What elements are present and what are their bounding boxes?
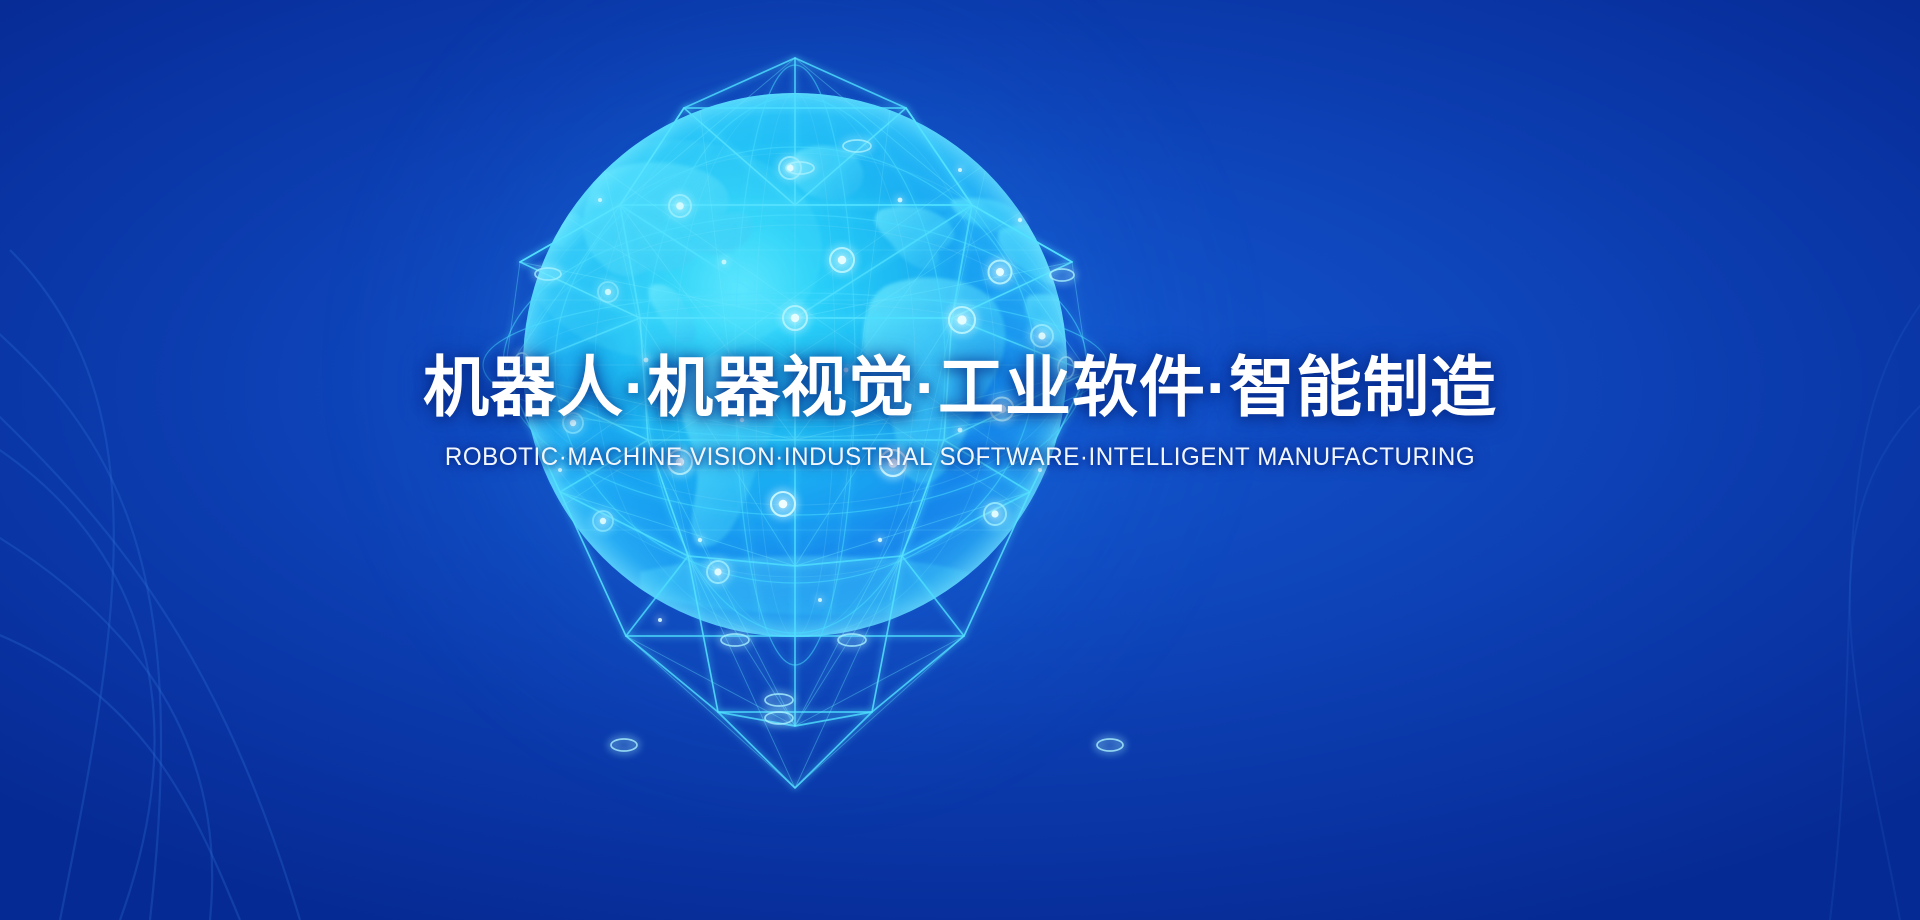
node-marker bbox=[593, 511, 613, 531]
sphere-specular bbox=[522, 140, 822, 360]
node-marker bbox=[783, 306, 807, 330]
node-marker bbox=[598, 282, 618, 302]
page-title: 机器人·机器视觉·工业软件·智能制造 bbox=[0, 352, 1920, 423]
node-marker bbox=[949, 307, 975, 333]
node-marker bbox=[984, 503, 1006, 525]
hero-banner: 机器人·机器视觉·工业软件·智能制造 ROBOTIC·MACHINE VISIO… bbox=[0, 0, 1920, 920]
page-subtitle: ROBOTIC·MACHINE VISION·INDUSTRIAL SOFTWA… bbox=[34, 443, 1887, 472]
node-marker bbox=[1031, 325, 1053, 347]
node-marker bbox=[669, 195, 691, 217]
node-marker bbox=[771, 492, 795, 516]
node-marker bbox=[830, 248, 854, 272]
node-marker bbox=[707, 561, 729, 583]
node-marker bbox=[989, 261, 1012, 284]
node-marker bbox=[779, 157, 801, 179]
